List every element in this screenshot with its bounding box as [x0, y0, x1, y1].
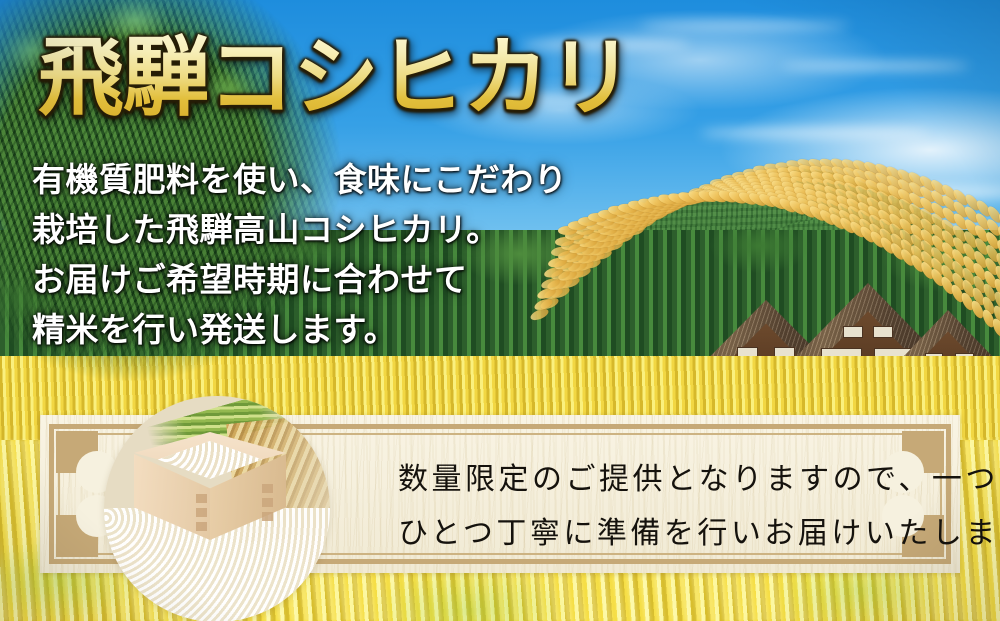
note-line-1: 数量限定のご提供となりますので、一つ	[398, 453, 918, 507]
corner-ornament-top-left	[56, 431, 98, 473]
note-text-block: 数量限定のご提供となりますので、一つ ひとつ丁寧に準備を行いお届けいたします。	[398, 453, 918, 561]
note-line-2: ひとつ丁寧に準備を行いお届けいたします。	[398, 507, 918, 561]
description-block: 有機質肥料を使い、食味にこだわり 栽培した飛騨高山コシヒカリ。 お届けご希望時期…	[32, 155, 567, 355]
description-line-4: 精米を行い発送します。	[32, 305, 567, 355]
description-line-1: 有機質肥料を使い、食味にこだわり	[32, 155, 567, 205]
rice-product-banner: 飛騨コシヒカリ 有機質肥料を使い、食味にこだわり 栽培した飛騨高山コシヒカリ。 …	[0, 0, 1000, 621]
wooden-masu-box	[134, 432, 286, 558]
rice-in-masu-inset-photo	[104, 396, 330, 621]
corner-ornament-bottom-left	[56, 515, 98, 557]
page-title: 飛騨コシヒカリ	[38, 30, 633, 126]
description-line-3: お届けご希望時期に合わせて	[32, 255, 567, 305]
description-line-2: 栽培した飛騨高山コシヒカリ。	[32, 205, 567, 255]
